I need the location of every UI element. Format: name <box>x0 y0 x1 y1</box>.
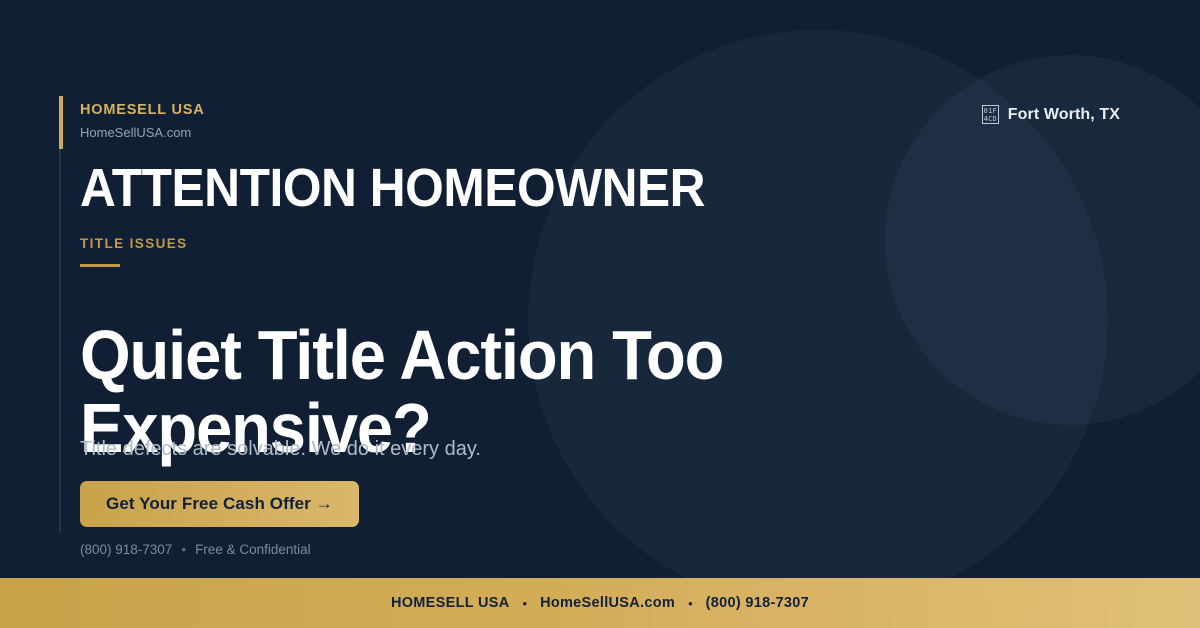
brand-name: HOMESELL USA <box>80 103 205 119</box>
category-eyebrow-label: TITLE ISSUES <box>80 237 188 251</box>
left-rail-accent <box>59 96 63 149</box>
top-bar: HOMESELL USA HomeSellUSA.com 01F 4CD For… <box>80 103 1120 140</box>
banner-content: HOMESELL USA HomeSellUSA.com 01F 4CD For… <box>80 0 1120 578</box>
footer-website[interactable]: HomeSellUSA.com <box>540 595 675 611</box>
promo-banner: HOMESELL USA HomeSellUSA.com 01F 4CD For… <box>0 0 1200 628</box>
category-eyebrow: TITLE ISSUES <box>80 237 188 267</box>
footer-separator-2: • <box>688 596 693 611</box>
footer-separator-1: • <box>523 596 528 611</box>
fineprint-note: Free & Confidential <box>195 541 311 559</box>
left-rail-divider <box>59 96 61 533</box>
category-eyebrow-rule <box>80 264 120 267</box>
attention-kicker: ATTENTION HOMEOWNER <box>80 160 705 217</box>
fineprint: (800) 918-7307 • Free & Confidential <box>80 541 311 559</box>
pushpin-icon-codepoint-bottom: 4CD <box>984 115 997 123</box>
get-free-cash-offer-button[interactable]: Get Your Free Cash Offer → <box>80 481 359 527</box>
location-label: Fort Worth, TX <box>1008 106 1120 124</box>
pushpin-icon-codepoint-top: 01F <box>984 107 997 115</box>
location-badge: 01F 4CD Fort Worth, TX <box>982 105 1120 124</box>
fineprint-phone[interactable]: (800) 918-7307 <box>80 541 172 559</box>
footer-brand: HOMESELL USA <box>391 595 510 611</box>
footer-phone[interactable]: (800) 918-7307 <box>706 595 809 611</box>
brand-website: HomeSellUSA.com <box>80 126 205 140</box>
subheadline: Title defects are solvable. We do it eve… <box>80 436 481 462</box>
pushpin-icon: 01F 4CD <box>982 105 999 124</box>
fineprint-separator: • <box>181 541 186 559</box>
footer-bar: HOMESELL USA • HomeSellUSA.com • (800) 9… <box>0 578 1200 628</box>
brand-block: HOMESELL USA HomeSellUSA.com <box>80 103 205 140</box>
